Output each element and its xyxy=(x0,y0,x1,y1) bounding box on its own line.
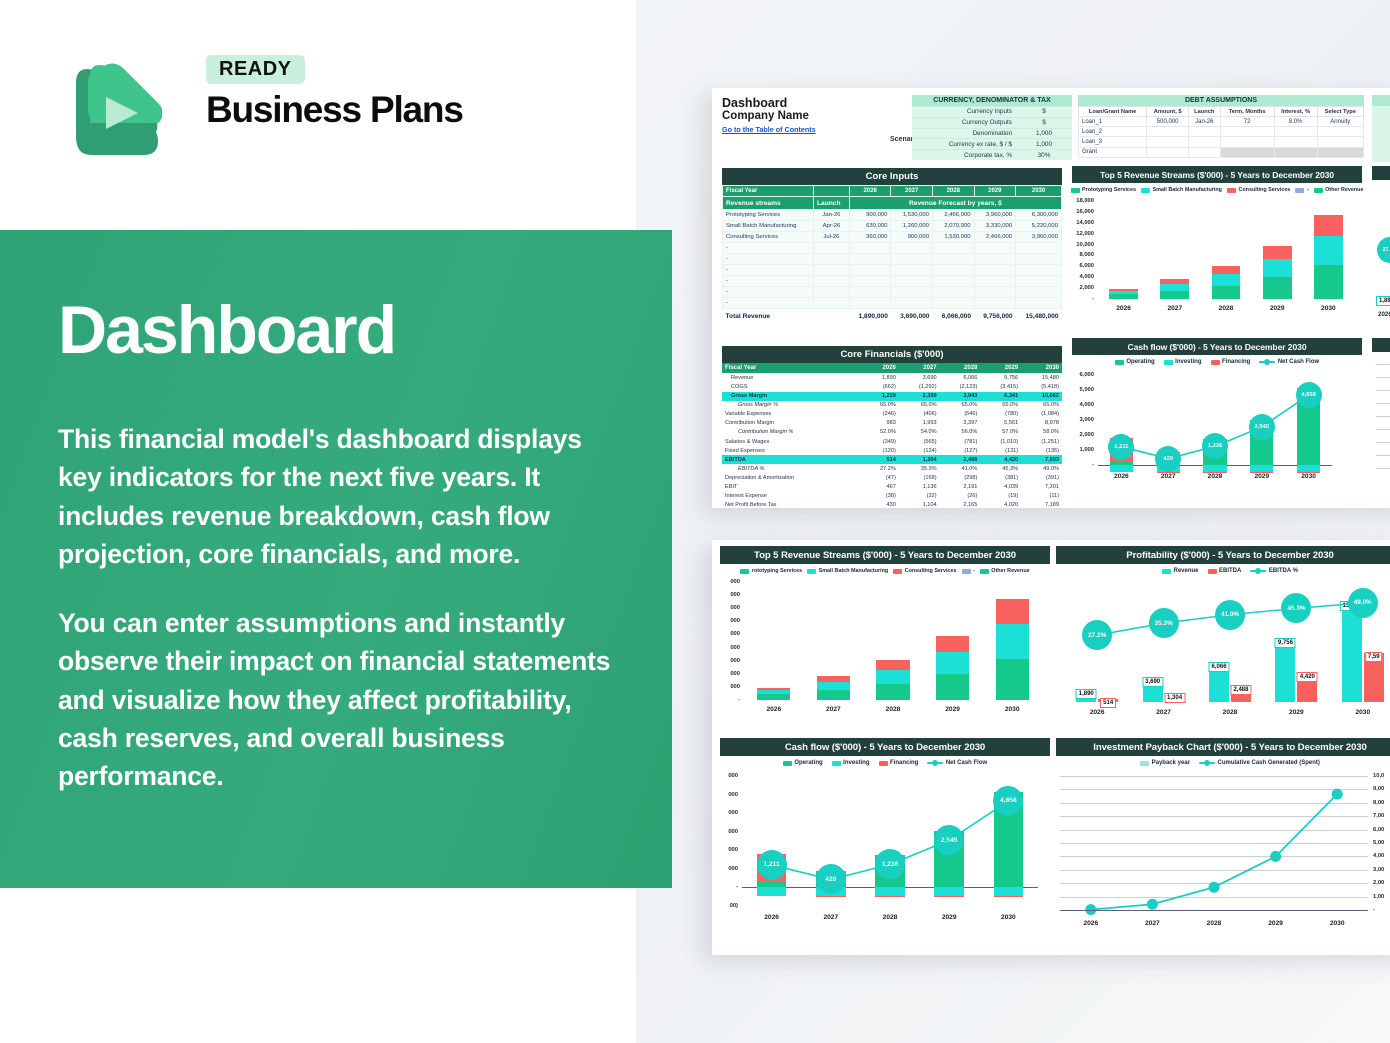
financial-row-value: 3,690 xyxy=(899,373,940,382)
legend-item: Cumulative Cash Generated (Spent) xyxy=(1199,760,1320,766)
table-row: Depreciation & Amortization(47)(168)(298… xyxy=(722,473,1062,482)
debt-assumptions-table: DEBT ASSUMPTIONS Loan/Grant NameAmount, … xyxy=(1078,95,1364,158)
chart-legend: Prototyping ServicesSmall Batch Manufact… xyxy=(1072,183,1362,195)
stream-launch: Jul-26 xyxy=(814,232,850,243)
legend-swatch xyxy=(893,569,902,574)
financial-row-value: 41.0% xyxy=(940,464,981,473)
stream-name: Consulting Services xyxy=(723,232,814,243)
financial-row-value: 10,062 xyxy=(1021,392,1062,401)
hero-paragraph-1: This financial model's dashboard display… xyxy=(58,420,614,574)
legend-item: Small Batch Manufacturing xyxy=(1141,187,1222,193)
financial-row-value: 6,066 xyxy=(940,373,981,382)
legend-item: Financing xyxy=(879,760,919,766)
chart-title: Top 5 Revenue Streams ($'000) - 5 Years … xyxy=(1072,166,1362,183)
fiscal-year-label: Fiscal Year xyxy=(723,186,814,197)
financial-row-label: COGS xyxy=(722,382,851,391)
year-header: 2028 xyxy=(932,186,974,197)
total-revenue-value: 15,480,000 xyxy=(1016,309,1062,323)
data-bubble: 2,545 xyxy=(934,825,964,855)
chart-title: Cash flow ($'000) - 5 Years to December … xyxy=(720,738,1050,756)
stream-value: 900,000 xyxy=(849,210,891,221)
legend-label: Prototyping Services xyxy=(1082,187,1136,193)
stream-value xyxy=(974,254,1016,265)
financial-row-value: (1,084) xyxy=(1021,410,1062,419)
financial-row-value: (662) xyxy=(861,382,899,391)
stream-value xyxy=(932,276,974,287)
working-capital-body: A De xyxy=(1372,106,1390,162)
table-row: Revenue1,8903,6906,0669,75615,480 xyxy=(722,373,1062,382)
financial-row-value: (3,415) xyxy=(980,382,1021,391)
debt-cell xyxy=(1220,137,1274,147)
table-row: Prototyping ServicesJan-26900,0001,530,0… xyxy=(723,210,1062,221)
hero-paragraph-2: You can enter assumptions and instantly … xyxy=(58,604,614,796)
gridline xyxy=(1376,429,1390,430)
legend-item: - xyxy=(962,568,975,574)
bar-segment xyxy=(817,690,850,700)
financial-row-value: 1,229 xyxy=(861,392,899,401)
total-revenue-label: Total Revenue xyxy=(723,309,814,323)
bar-segment xyxy=(996,624,1029,658)
legend-item: EBITDA xyxy=(1208,568,1242,574)
financial-row-value: (26) xyxy=(940,492,981,501)
chart-revenue-streams-top[interactable]: Top 5 Revenue Streams ($'000) - 5 Years … xyxy=(1072,166,1362,334)
spacer-cell xyxy=(851,446,861,455)
y-tick-label: 16,000 xyxy=(1072,209,1094,215)
dashboard-screenshot-bottom[interactable]: Top 5 Revenue Streams ($'000) - 5 Years … xyxy=(712,540,1390,955)
debt-cell xyxy=(1220,147,1274,157)
legend-swatch xyxy=(962,569,971,574)
chart-partial-right-top[interactable]: 27.2% 1,890 2026 xyxy=(1372,166,1390,334)
financial-row-label: Salaries & Wages xyxy=(722,437,851,446)
debt-column-header: Term, Months xyxy=(1220,107,1274,117)
stream-value xyxy=(1016,287,1062,298)
bar-segment xyxy=(757,694,790,700)
financial-row-value: (168) xyxy=(899,473,940,482)
bar-segment xyxy=(1263,246,1292,259)
financial-row-label: Depreciation & Amortization xyxy=(722,473,851,482)
legend-item: Prototyping Services xyxy=(1071,187,1136,193)
table-row: - xyxy=(723,265,1062,276)
stream-launch xyxy=(814,243,850,254)
y-tick-label: 14,000 xyxy=(1072,220,1094,226)
fiscal-year-label: Fiscal Year xyxy=(722,363,851,373)
gridline xyxy=(1376,364,1390,365)
currency-row: Currency Outputs$ xyxy=(912,117,1072,128)
legend-label: Financing xyxy=(1222,359,1250,365)
chart-revenue-streams-bottom[interactable]: Top 5 Revenue Streams ($'000) - 5 Years … xyxy=(720,546,1050,736)
table-row: EBITDA5141,3042,4884,4207,593 xyxy=(722,455,1062,464)
legend-label: Consulting Services xyxy=(1238,187,1290,193)
financial-row-value: 514 xyxy=(861,455,899,464)
year-header: 2026 xyxy=(861,363,899,373)
brand-logo[interactable]: READY Business Plans xyxy=(58,55,438,165)
debt-cell xyxy=(1147,137,1189,147)
financial-row-value: (120) xyxy=(861,446,899,455)
legend-label: Other Revenue xyxy=(991,568,1029,574)
spacer-cell xyxy=(851,410,861,419)
legend-swatch xyxy=(1314,188,1323,193)
stream-name: - xyxy=(723,265,814,276)
debt-cell xyxy=(1274,127,1317,137)
x-axis-line xyxy=(1060,910,1368,911)
chart-cash-flow-top[interactable]: Cash flow ($'000) - 5 Years to December … xyxy=(1072,338,1362,498)
legend-swatch xyxy=(1250,570,1266,572)
legend-item: - xyxy=(1295,187,1308,193)
financial-row-value: 9,756 xyxy=(980,373,1021,382)
financial-row-value: 57.0% xyxy=(980,428,1021,437)
spacer-cell xyxy=(851,483,861,492)
financial-row-value: 65.0% xyxy=(940,401,981,410)
financial-row-value: (406) xyxy=(899,410,940,419)
gridline xyxy=(1376,403,1390,404)
working-capital-title: WOR xyxy=(1372,95,1390,106)
financial-row-label: Net Profit Before Tax xyxy=(722,501,851,508)
stream-name: - xyxy=(723,243,814,254)
year-header: 2026 xyxy=(849,186,891,197)
legend-swatch xyxy=(1115,360,1124,365)
currency-table-title: CURRENCY, DENOMINATOR & TAX xyxy=(912,95,1072,106)
legend-swatch xyxy=(1259,361,1275,363)
stream-launch: Jan-26 xyxy=(814,210,850,221)
spacer-cell xyxy=(851,363,861,373)
x-tick-label: 2027 xyxy=(1145,920,1160,927)
stream-value: 1,530,000 xyxy=(891,210,933,221)
stream-value xyxy=(1016,276,1062,287)
core-inputs-title: Core Inputs xyxy=(722,168,1062,185)
legend-swatch xyxy=(879,761,888,766)
year-header: 2027 xyxy=(891,186,933,197)
stream-value: 3,330,000 xyxy=(974,221,1016,232)
bar-segment xyxy=(757,688,790,690)
stream-value: 2,466,000 xyxy=(974,232,1016,243)
chart-title: Top 5 Revenue Streams ($'000) - 5 Years … xyxy=(720,546,1050,564)
debt-column-header: Loan/Grant Name xyxy=(1079,107,1147,117)
financial-row-value: 2,399 xyxy=(899,392,940,401)
financial-row-value: (47) xyxy=(861,473,899,482)
stream-value: 630,000 xyxy=(849,221,891,232)
financial-row-value: (391) xyxy=(1021,473,1062,482)
financial-row-value: 5,561 xyxy=(980,419,1021,428)
financial-row-label: Contribution Margin xyxy=(722,419,851,428)
chart-plot-area xyxy=(1372,352,1390,482)
legend-swatch xyxy=(1162,569,1171,574)
legend-swatch xyxy=(1208,569,1217,574)
table-row: Gross Margin %65.0%65.0%65.0%65.0%65.0% xyxy=(722,401,1062,410)
financial-row-label: Variable Expenses xyxy=(722,410,851,419)
data-bubble: 1,236 xyxy=(1202,433,1228,459)
table-row: Gross Margin1,2292,3993,9436,34110,062 xyxy=(722,392,1062,401)
currency-row: Currency ex rate, $ / $1,000 xyxy=(912,138,1072,149)
stream-value xyxy=(974,265,1016,276)
bar-segment xyxy=(1160,279,1189,284)
legend-item: Other Revenue xyxy=(980,568,1030,574)
legend-swatch xyxy=(807,569,816,574)
data-bubble: 41.0% xyxy=(1215,600,1245,630)
debt-column-header: Select Type xyxy=(1317,107,1363,117)
table-row: EBITDA %27.2%35.3%41.0%45.3%49.0% xyxy=(722,464,1062,473)
legend-item: Investing xyxy=(832,760,870,766)
year-header: 2027 xyxy=(899,363,940,373)
stream-name: Prototyping Services xyxy=(723,210,814,221)
year-header: 2028 xyxy=(940,363,981,373)
chart-plot-area: 1,89051420263,6901,30420276,0662,4882028… xyxy=(1056,576,1390,726)
legend-item: Operating xyxy=(783,760,823,766)
currency-rows: Currency Inputs$Currency Outputs$Denomin… xyxy=(912,106,1072,160)
financial-row-value: (135) xyxy=(1021,446,1062,455)
spacer-cell xyxy=(814,186,850,197)
data-bubble: 4,658 xyxy=(1296,382,1322,408)
core-financials-title: Core Financials ($'000) xyxy=(722,346,1062,363)
launch-header: Launch xyxy=(814,197,850,210)
legend-label: Small Batch Manufacturing xyxy=(819,568,889,574)
bar-segment xyxy=(996,599,1029,625)
table-row: - xyxy=(723,276,1062,287)
financial-row-value: (124) xyxy=(899,446,940,455)
stream-value xyxy=(974,243,1016,254)
bar-segment xyxy=(1109,291,1138,294)
financial-row-value: (2,123) xyxy=(940,382,981,391)
chart-cash-flow-bottom[interactable]: Cash flow ($'000) - 5 Years to December … xyxy=(720,738,1050,950)
table-row: Net Profit Before Tax4301,1042,1654,0207… xyxy=(722,501,1062,508)
table-row: Interest Expense(38)(32)(26)(19)(11) xyxy=(722,492,1062,501)
legend-item: Net Cash Flow xyxy=(1259,359,1319,365)
bar-segment xyxy=(1160,284,1189,291)
debt-cell xyxy=(1274,147,1317,157)
table-row: Contribution Margin %52.0%54.0%56.0%57.0… xyxy=(722,428,1062,437)
stream-value xyxy=(932,254,974,265)
financial-row-value: (546) xyxy=(940,410,981,419)
x-tick-label: 2026 xyxy=(1083,920,1098,927)
debt-cell: Loan_1 xyxy=(1079,117,1147,127)
data-bubble: 1,211 xyxy=(757,850,787,880)
bar-segment xyxy=(757,690,790,694)
gridline xyxy=(1376,377,1390,378)
gridline xyxy=(1376,442,1390,443)
data-bubble: 35.3% xyxy=(1149,608,1179,638)
legend-label: - xyxy=(1307,187,1309,193)
chart-plot-area: 18,00016,00014,00012,00010,0008,0006,000… xyxy=(1072,195,1362,321)
bar-segment xyxy=(996,659,1029,700)
financial-row-value: 430 xyxy=(861,501,899,508)
hero-panel: Dashboard This financial model's dashboa… xyxy=(0,230,672,888)
legend-swatch xyxy=(927,762,943,764)
financial-row-label: EBITDA % xyxy=(722,464,851,473)
financial-row-value: 3,943 xyxy=(940,392,981,401)
financial-row-value: 1,993 xyxy=(899,419,940,428)
y-tick-label: 2,000 xyxy=(1072,285,1094,291)
chart-legend: RevenueEBITDAEBITDA % xyxy=(1056,564,1390,576)
legend-swatch xyxy=(1211,360,1220,365)
bar-segment xyxy=(1263,277,1292,299)
table-row: - xyxy=(723,298,1062,309)
stream-launch: Apr-26 xyxy=(814,221,850,232)
table-row: Salaries & Wages(349)(565)(781)(1,010)(1… xyxy=(722,437,1062,446)
legend-item: Investing xyxy=(1164,359,1202,365)
financial-row-value: (127) xyxy=(940,446,981,455)
bar-segment xyxy=(1212,274,1241,285)
debt-cell: Loan_3 xyxy=(1079,137,1147,147)
currency-row-value: $ xyxy=(1016,118,1072,128)
y-tick-label: 12,000 xyxy=(1072,231,1094,237)
debt-cell xyxy=(1317,137,1363,147)
financial-row-value: 1,136 xyxy=(899,483,940,492)
y-tick-label: 10,000 xyxy=(1072,242,1094,248)
y-tick-label: 6,000 xyxy=(1072,263,1094,269)
legend-item: Other Revenue xyxy=(1314,187,1364,193)
bar-segment xyxy=(876,660,909,670)
chart-legend: Payback yearCumulative Cash Generated (S… xyxy=(1056,756,1390,768)
dashboard-screenshot-top[interactable]: Dashboard Company Name Go to the Table o… xyxy=(712,88,1390,508)
financial-row-value: (298) xyxy=(940,473,981,482)
stream-name: - xyxy=(723,298,814,309)
bar-segment xyxy=(936,674,969,700)
stream-value xyxy=(932,298,974,309)
legend-item: Net Cash Flow xyxy=(927,760,987,766)
debt-cell xyxy=(1188,137,1220,147)
debt-cell xyxy=(1147,147,1189,157)
spacer-cell xyxy=(851,419,861,428)
stream-value xyxy=(932,243,974,254)
chart-title: Profitability ($'000) - 5 Years to Decem… xyxy=(1056,546,1390,564)
debt-cell: 8.0% xyxy=(1274,117,1317,127)
stream-value xyxy=(891,298,933,309)
cumulative-cash-line xyxy=(1056,768,1390,940)
chart-profitability[interactable]: Profitability ($'000) - 5 Years to Decem… xyxy=(1056,546,1390,736)
bar-segment xyxy=(1212,286,1241,299)
y-tick-label: - xyxy=(1072,296,1094,302)
stream-value xyxy=(974,276,1016,287)
data-bubble: 45.3% xyxy=(1281,593,1311,623)
financial-row-value: 4,039 xyxy=(980,483,1021,492)
data-bubble: 1,236 xyxy=(875,849,905,879)
spacer-cell xyxy=(851,464,861,473)
financial-row-value: 3,397 xyxy=(940,419,981,428)
stream-name: - xyxy=(723,276,814,287)
data-bubble: 429 xyxy=(816,864,846,894)
financial-row-value: 45.3% xyxy=(980,464,1021,473)
stream-value xyxy=(849,276,891,287)
play-triangle-logo-icon xyxy=(58,57,162,161)
debt-cell xyxy=(1274,137,1317,147)
table-row: Loan_2 xyxy=(1079,127,1364,137)
legend-label: Cumulative Cash Generated (Spent) xyxy=(1218,760,1320,766)
debt-cell xyxy=(1147,127,1189,137)
legend-swatch xyxy=(1140,761,1149,766)
chart-plot-area: 6,0005,0004,0003,0002,0001,000-202620272… xyxy=(1072,367,1362,489)
chart-plot-area: 27.2% 1,890 2026 xyxy=(1372,180,1390,320)
chart-plot-area: 10,09,008,007,006,005,004,003,002,001,00… xyxy=(1056,768,1390,940)
x-tick-label: 2029 xyxy=(1270,305,1285,312)
legend-swatch xyxy=(1227,188,1236,193)
stream-value xyxy=(891,254,933,265)
stream-value xyxy=(891,243,933,254)
table-row: Revenue streamsLaunchRevenue Forecast by… xyxy=(723,197,1062,210)
data-bubble: 1,211 xyxy=(1108,434,1134,460)
financial-row-value: 2,191 xyxy=(940,483,981,492)
financial-row-value: 983 xyxy=(861,419,899,428)
legend-label: Operating xyxy=(1126,359,1154,365)
table-row: Loan_1500,000Jan-26728.0%Annuity xyxy=(1079,117,1364,127)
financial-row-value: 4,020 xyxy=(980,501,1021,508)
legend-item: Financing xyxy=(1211,359,1251,365)
chart-title-partial: Inve xyxy=(1372,338,1390,352)
stream-value xyxy=(849,254,891,265)
spacer-cell xyxy=(851,455,861,464)
financial-row-value: (349) xyxy=(861,437,899,446)
stream-value xyxy=(1016,265,1062,276)
chart-partial-right-bottom[interactable]: Inve xyxy=(1372,338,1390,498)
financial-row-value: 49.0% xyxy=(1021,464,1062,473)
debt-cell xyxy=(1188,147,1220,157)
stream-launch xyxy=(814,298,850,309)
financial-row-value: 7,593 xyxy=(1021,455,1062,464)
table-row: Loan_3 xyxy=(1079,137,1364,147)
financial-row-label: EBITDA xyxy=(722,455,851,464)
chart-investment-payback[interactable]: Investment Payback Chart ($'000) - 5 Yea… xyxy=(1056,738,1390,950)
table-row: Variable Expenses(246)(406)(546)(780)(1,… xyxy=(722,410,1062,419)
stream-value: 360,000 xyxy=(849,232,891,243)
bar-segment xyxy=(817,682,850,690)
financial-row-value: (1,251) xyxy=(1021,437,1062,446)
spacer-cell xyxy=(851,373,861,382)
data-bubble: 4,658 xyxy=(993,786,1023,816)
financial-row-label: Contribution Margin % xyxy=(722,428,851,437)
financial-row-label: Revenue xyxy=(722,373,851,382)
currency-row-key: Denomination xyxy=(912,129,1016,139)
legend-swatch xyxy=(740,569,749,574)
legend-item: Consulting Services xyxy=(1227,187,1290,193)
currency-row-value: 30% xyxy=(1016,150,1072,160)
data-bubble: 27.2% xyxy=(1082,620,1112,650)
financial-row-value: 8,978 xyxy=(1021,419,1062,428)
stream-value: 6,300,000 xyxy=(1016,210,1062,221)
currency-row-key: Currency Outputs xyxy=(912,118,1016,128)
financial-row-value: 467 xyxy=(861,483,899,492)
stream-value xyxy=(849,243,891,254)
stream-value: 900,000 xyxy=(891,232,933,243)
legend-label: EBITDA xyxy=(1219,568,1241,574)
x-tick-label: 2028 xyxy=(886,706,901,713)
financial-row-value: (780) xyxy=(980,410,1021,419)
debt-cell: 500,000 xyxy=(1147,117,1189,127)
debt-column-header: Launch xyxy=(1188,107,1220,117)
debt-cell: 72 xyxy=(1220,117,1274,127)
chart-title: Investment Payback Chart ($'000) - 5 Yea… xyxy=(1056,738,1390,756)
stream-launch xyxy=(814,276,850,287)
currency-row: Corporate tax, %30% xyxy=(912,149,1072,160)
financial-row-value: 2,488 xyxy=(940,455,981,464)
data-bubble: 429 xyxy=(1155,446,1181,472)
bar-segment xyxy=(1314,215,1343,237)
spacer-cell xyxy=(851,473,861,482)
year-header: 2030 xyxy=(1021,363,1062,373)
financial-row-value: (5,418) xyxy=(1021,382,1062,391)
spacer-cell xyxy=(851,501,861,508)
y-tick-label: 000 xyxy=(720,684,740,690)
data-bubble: 49.0% xyxy=(1348,588,1378,618)
financial-row-value: 1,104 xyxy=(899,501,940,508)
debt-column-header: Amount, $ xyxy=(1147,107,1189,117)
year-header: 2029 xyxy=(980,363,1021,373)
stream-launch xyxy=(814,265,850,276)
debt-cell xyxy=(1317,127,1363,137)
financial-row-label: Gross Margin xyxy=(722,392,851,401)
x-tick-label: 2030 xyxy=(1330,920,1345,927)
legend-label: Investing xyxy=(843,760,869,766)
debt-cell: Grant xyxy=(1079,147,1147,157)
legend-label: Operating xyxy=(794,760,822,766)
table-row: Grant xyxy=(1079,147,1364,157)
